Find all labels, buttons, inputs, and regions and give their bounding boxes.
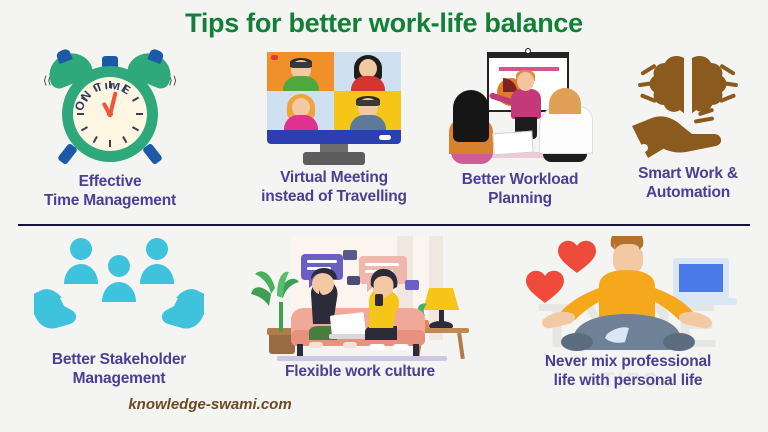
couple-on-sofa-icon bbox=[247, 236, 473, 362]
footer-site-url: knowledge-swami.com bbox=[0, 396, 420, 413]
alarm-clock-icon: ⟨⟨ ⟩⟩ ON TIME bbox=[45, 48, 175, 168]
monitor-screen bbox=[267, 52, 401, 130]
video-tile-1 bbox=[267, 52, 334, 91]
whiteboard-hook bbox=[525, 48, 531, 54]
tip-card-never-mix-professional-personal: Never mix professional life with persona… bbox=[488, 236, 768, 390]
monitor-led bbox=[379, 135, 391, 140]
clock-body: ON TIME bbox=[62, 66, 158, 162]
tip-card-better-workload-planning: Better Workload Planning bbox=[432, 48, 608, 208]
tip-caption-line2: Planning bbox=[432, 189, 608, 208]
brain-shape bbox=[650, 56, 727, 114]
tip-caption-line1: Flexible work culture bbox=[240, 362, 480, 381]
presenter-body bbox=[511, 89, 541, 119]
hand-left bbox=[34, 289, 96, 328]
tip-caption-line2: instead of Travelling bbox=[234, 187, 434, 206]
person-right bbox=[140, 238, 174, 284]
tip-caption-line1: Effective bbox=[12, 172, 208, 191]
page-title: Tips for better work-life balance bbox=[0, 8, 768, 39]
floor-rug bbox=[277, 356, 447, 361]
desk-paper bbox=[492, 131, 533, 156]
tip-caption-line2: Time Management bbox=[12, 191, 208, 210]
tip-card-smart-work-automation: Smart Work & Automation bbox=[608, 48, 768, 202]
presenter-head bbox=[517, 72, 534, 91]
monitor-base bbox=[303, 152, 365, 165]
video-tile-2 bbox=[334, 52, 401, 91]
person-left bbox=[64, 238, 98, 284]
person-center bbox=[102, 255, 136, 302]
row-divider bbox=[18, 224, 750, 226]
video-call-monitor-icon bbox=[259, 48, 409, 166]
tip-caption-line1: Better Workload bbox=[432, 170, 608, 189]
people-in-hands-icon bbox=[34, 236, 204, 344]
open-hand-shape bbox=[632, 108, 721, 158]
brain-in-hand-icon bbox=[618, 48, 758, 166]
tip-caption-line1: Better Stakeholder bbox=[8, 350, 230, 369]
video-tile-3 bbox=[267, 91, 334, 130]
tip-caption-line2: Automation bbox=[608, 183, 768, 202]
meditating-person-icon bbox=[503, 236, 753, 356]
video-tile-4 bbox=[334, 91, 401, 130]
hand-right bbox=[142, 289, 204, 328]
clock-face: ON TIME bbox=[73, 77, 147, 151]
clock-pivot bbox=[107, 111, 113, 117]
infographic-canvas: TYPE TIPS Tips for better work-life bala… bbox=[0, 0, 768, 432]
hearts bbox=[526, 241, 596, 303]
monitor-bottom-bar bbox=[267, 130, 401, 144]
tip-caption-line2: Management bbox=[8, 369, 230, 388]
tip-card-better-stakeholder-management: Better Stakeholder Management bbox=[8, 236, 230, 388]
tip-caption-line1: Smart Work & bbox=[608, 164, 768, 183]
tip-caption-line2: life with personal life bbox=[488, 371, 768, 390]
presentation-meeting-icon bbox=[445, 48, 595, 168]
tip-card-effective-time-management: ⟨⟨ ⟩⟩ ON TIME bbox=[12, 48, 208, 210]
tip-card-virtual-meeting: Virtual Meeting instead of Travelling bbox=[234, 48, 434, 206]
attendee-left-hair bbox=[453, 90, 489, 142]
tip-card-flexible-work-culture: Flexible work culture bbox=[240, 236, 480, 381]
attendee-right-hair bbox=[549, 88, 581, 114]
tip-caption-line1: Virtual Meeting bbox=[234, 168, 434, 187]
